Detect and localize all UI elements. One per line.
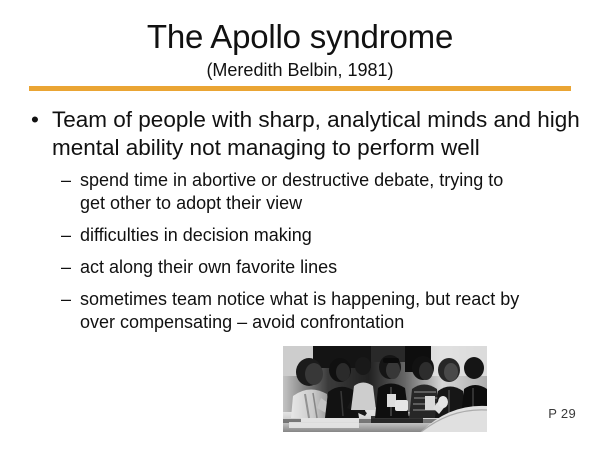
bullet-dash-icon: – bbox=[61, 256, 71, 279]
title-block: The Apollo syndrome (Meredith Belbin, 19… bbox=[0, 18, 600, 81]
page-subtitle: (Meredith Belbin, 1981) bbox=[0, 59, 600, 81]
bullet-level2-text: sometimes team notice what is happening,… bbox=[80, 288, 530, 334]
bullet-level1: • Team of people with sharp, analytical … bbox=[0, 106, 600, 162]
slide-body: • Team of people with sharp, analytical … bbox=[0, 106, 600, 343]
bullet-dash-icon: – bbox=[61, 288, 71, 311]
bullet-level2-text: spend time in abortive or destructive de… bbox=[80, 169, 530, 215]
bullet-level2: – act along their own favorite lines bbox=[0, 256, 600, 279]
team-meeting-photo bbox=[283, 346, 487, 432]
bullet-level1-text: Team of people with sharp, analytical mi… bbox=[52, 106, 582, 162]
bullet-level2: – difficulties in decision making bbox=[0, 224, 600, 247]
bullet-dot-icon: • bbox=[31, 106, 39, 134]
bullet-level2-text: act along their own favorite lines bbox=[80, 256, 530, 279]
bullet-dash-icon: – bbox=[61, 224, 71, 247]
team-meeting-photo-graphic bbox=[283, 346, 487, 432]
bullet-level2-text: difficulties in decision making bbox=[80, 224, 530, 247]
bullet-dash-icon: – bbox=[61, 169, 71, 192]
page-title: The Apollo syndrome bbox=[0, 18, 600, 56]
bullet-level2: – spend time in abortive or destructive … bbox=[0, 169, 600, 215]
bullet-level2: – sometimes team notice what is happenin… bbox=[0, 288, 600, 334]
slide: The Apollo syndrome (Meredith Belbin, 19… bbox=[0, 0, 600, 450]
page-number: P 29 bbox=[548, 406, 576, 422]
title-divider-rule bbox=[29, 86, 571, 91]
sub-bullet-list: – spend time in abortive or destructive … bbox=[0, 169, 600, 334]
